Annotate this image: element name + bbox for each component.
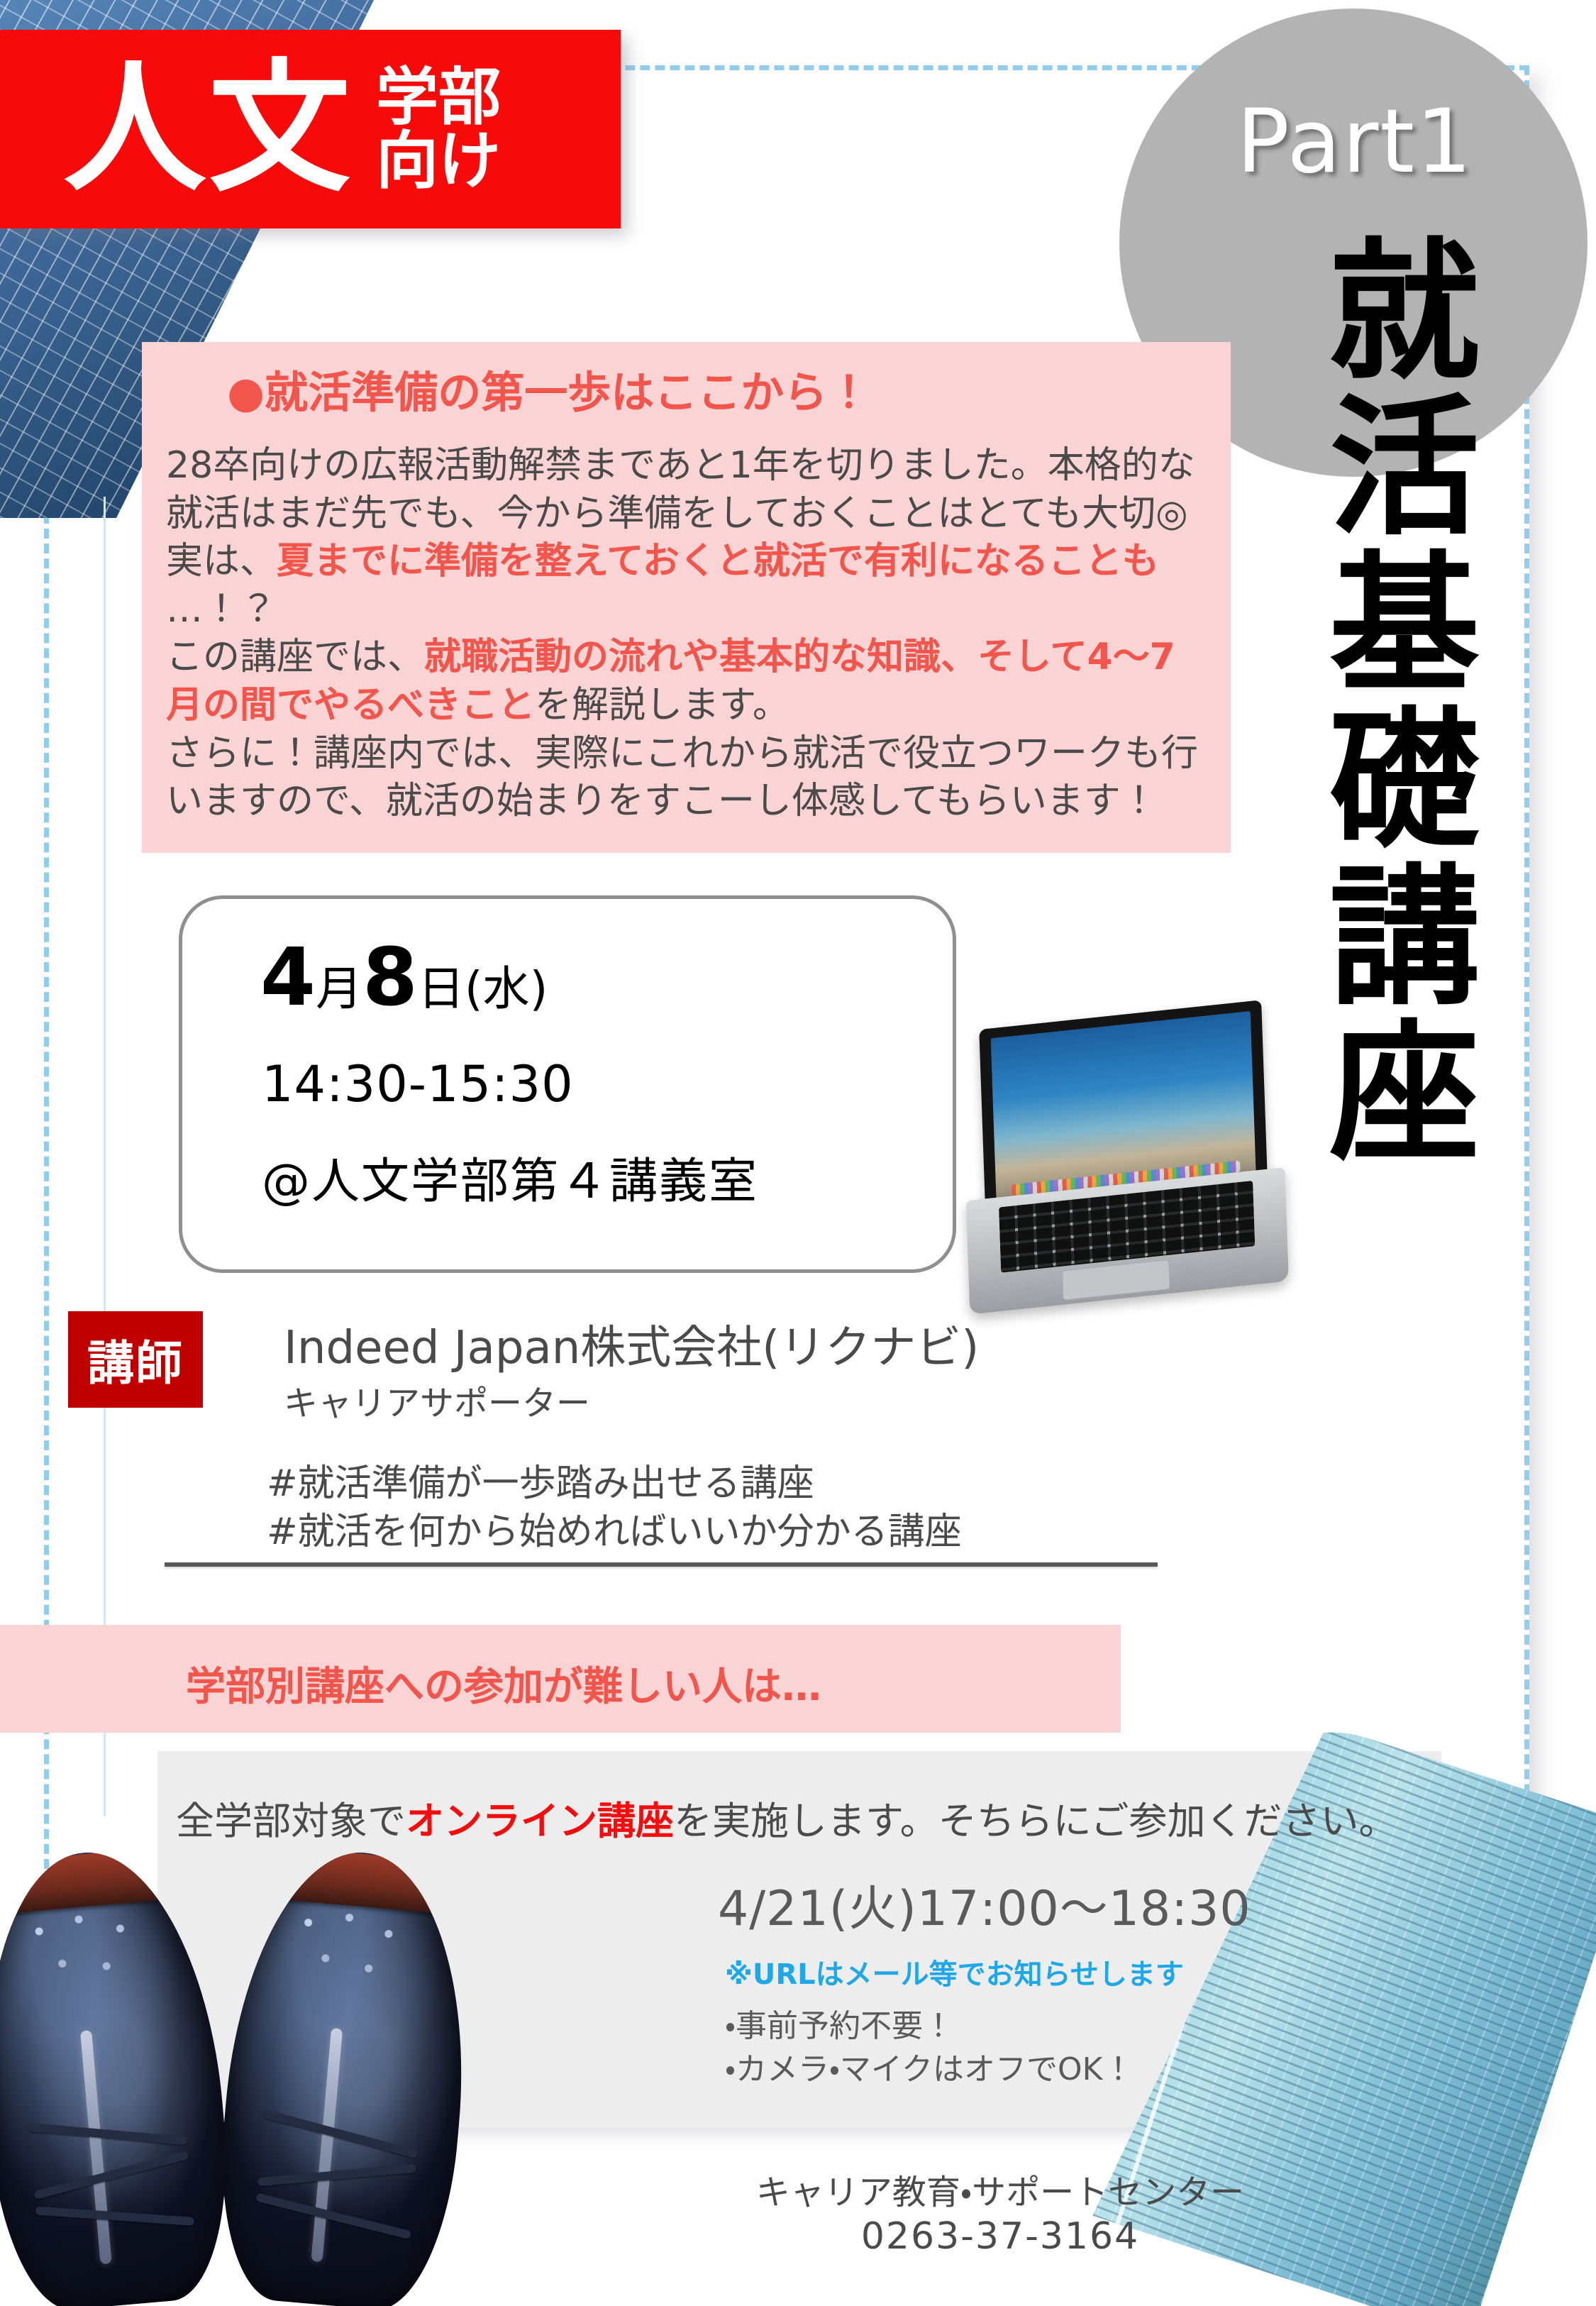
online-note-1: ・事前予約不要！ [725,2005,1134,2048]
faculty-sub-line2: 向け [376,129,501,193]
part-label: Part1 [1177,91,1532,193]
intro-para1-c: …！？ [166,588,277,631]
footer-phone[interactable]: 0263-37-3164 [709,2214,1291,2260]
course-title-char-5: 講 [1319,860,1490,1016]
event-day-number: 8 [362,932,418,1024]
event-venue: @人文学部第４講義室 [262,1142,758,1212]
online-intro-text: 学部別講座への参加が難しい人は… [0,1625,1121,1712]
shoe-left-lace-3 [35,2206,195,2226]
event-time: 14:30-15:30 [262,1055,574,1113]
course-hashtag-2: #就活を何から始めればいいか分かる講座 [267,1508,962,1557]
online-note-2: ・カメラ・マイクはオフでOK！ [725,2048,1134,2092]
event-weekday: (水) [465,961,548,1016]
shoe-right-lace-2 [257,2164,417,2187]
instructor-label: 講師 [87,1325,184,1394]
online-lead-text: 全学部対象でオンライン講座を実施します。そちらにご参加ください。 [176,1789,1397,1846]
faculty-sub-label: 学部 向け [376,65,501,193]
shoe-left-lace-1 [28,2123,187,2146]
faculty-sub-line1: 学部 [376,65,501,129]
section-divider [165,1562,1158,1567]
shoe-left [0,1843,239,2306]
event-month-unit: 月 [316,961,362,1016]
course-hashtags: #就活準備が一歩踏み出せる講座 #就活を何から始めればいいか分かる講座 [267,1460,962,1556]
instructor-role: キャリアサポーター [284,1375,590,1425]
shoe-right-tongue [311,2028,343,2262]
shoe-right [209,1843,482,2306]
course-title-char-3: 基 [1319,547,1490,703]
intro-para1-a: 28卒向けの広報活動解禁まであと1年を切りました。本格的な就活はまだ先でも、今か… [166,444,1195,535]
faculty-banner: 人文 学部 向け [0,30,621,228]
shoe-left-tongue [80,2030,112,2264]
course-title-char-4: 礎 [1319,703,1490,859]
course-title-char-1: 就 [1319,234,1490,390]
online-lead-b: を実施します。そちらにご参加ください。 [674,1799,1397,1843]
shoe-right-lace-3 [255,2192,412,2239]
poster-root: Part1 人文 学部 向け 就 活 基 礎 講 座 ●就活準備の第一歩はここか… [0,0,1596,2306]
footer-organization: キャリア教育・サポートセンター [709,2171,1291,2214]
intro-para2-a: この講座では、 [166,636,424,678]
instructor-label-box: 講師 [68,1311,203,1408]
online-lead-a: 全学部対象で [176,1799,406,1843]
vertical-guide-line [104,497,106,1816]
intro-body: 28卒向けの広報活動解禁まであと1年を切りました。本格的な就活はまだ先でも、今か… [142,416,1231,826]
intro-para1-b: 実は、 [166,540,277,583]
course-title-char-2: 活 [1319,390,1490,546]
online-notes: ・事前予約不要！ ・カメラ・マイクはオフでOK！ [725,2005,1134,2091]
course-title-char-6: 座 [1319,1016,1490,1172]
event-info-box: 4月8日(水) 14:30-15:30 @人文学部第４講義室 [179,895,956,1273]
event-month-number: 4 [260,932,316,1024]
course-hashtag-1: #就活準備が一歩踏み出せる講座 [267,1460,962,1508]
intro-para2-b: を解説します。 [535,684,789,727]
laptop-trackpad [1062,1259,1170,1301]
shoe-right-lace-1 [262,2109,419,2159]
online-intro-band: 学部別講座への参加が難しい人は… [0,1625,1121,1733]
online-datetime: 4/21(火)17:00〜18:30 [718,1869,1251,1939]
online-url-note: ※URLはメール等でお知らせします [725,1951,1184,1992]
shoe-left-lace-2 [33,2151,189,2200]
online-lead-highlight: オンライン講座 [406,1799,674,1843]
event-date-line: 4月8日(水) [260,932,548,1024]
laptop-computer-photo [944,998,1314,1330]
instructor-company: Indeed Japan株式会社(リクナビ) [284,1311,979,1377]
event-day-unit: 日 [418,961,465,1016]
laptop-keyboard [999,1181,1255,1273]
footer-contact: キャリア教育・サポートセンター 0263-37-3164 [709,2171,1291,2260]
intro-para3: さらに！講座内では、実際にこれから就活で役立つワークも行いますので、就活の始まり… [166,732,1198,823]
faculty-main-label: 人文 [64,64,353,194]
dress-shoes-photo [0,1852,560,2306]
course-title-vertical: 就 活 基 礎 講 座 [1319,234,1490,1173]
intro-block: ●就活準備の第一歩はここから！ 28卒向けの広報活動解禁まであと1年を切りました… [142,342,1231,853]
intro-headline: ●就活準備の第一歩はここから！ [142,342,1231,416]
intro-para1-highlight: 夏までに準備を整えておくと就活で有利になることも [277,540,1159,583]
